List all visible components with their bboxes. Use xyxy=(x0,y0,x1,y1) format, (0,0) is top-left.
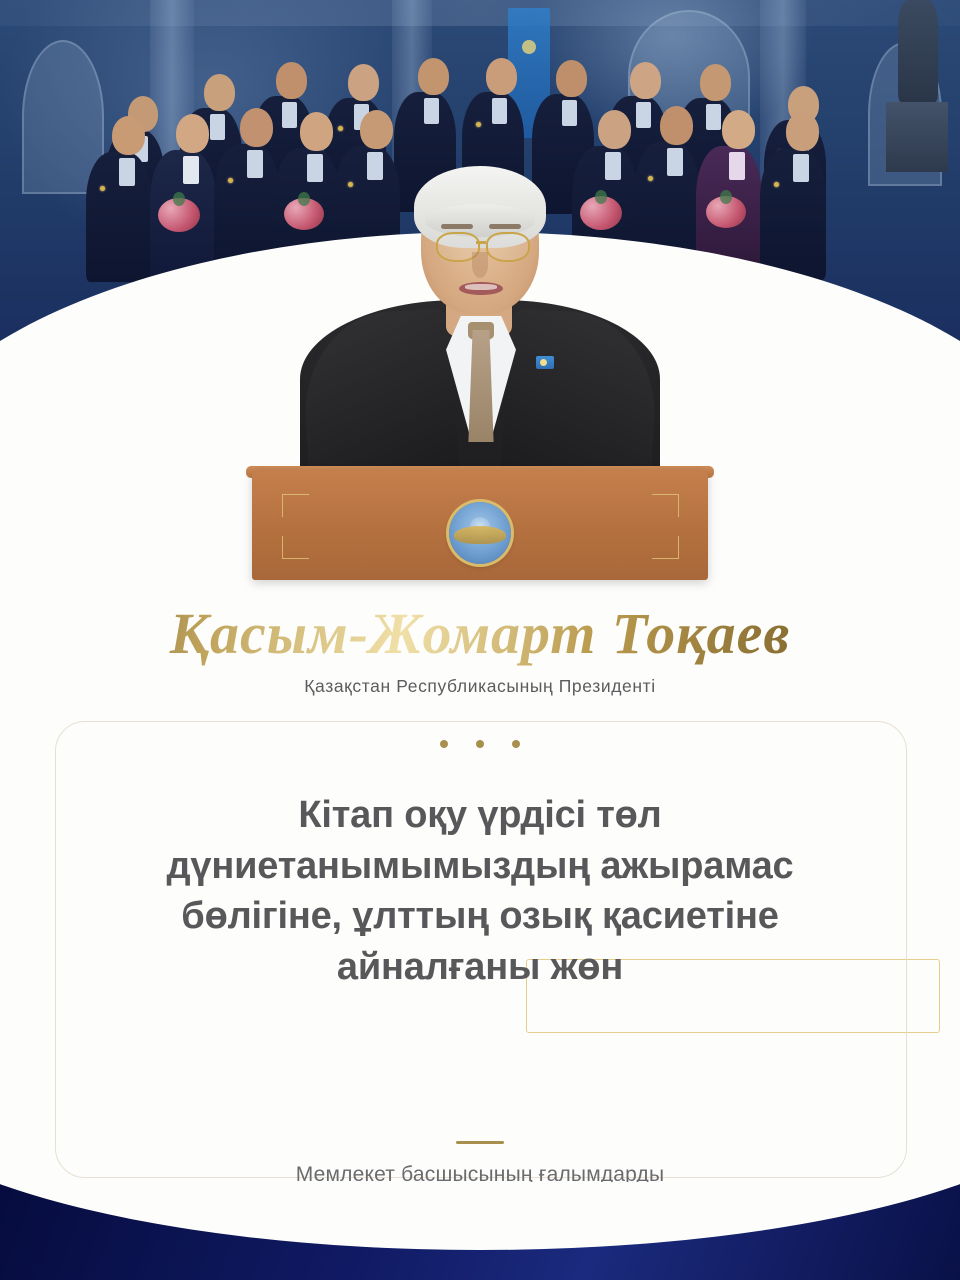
quote-line: айналғаны жөн xyxy=(95,942,865,993)
speaker-lapel-left xyxy=(301,308,460,470)
flag-lapel-pin-icon xyxy=(536,356,554,369)
dot-icon xyxy=(512,740,520,748)
poster-root: Қасым-Жомарт Тоқаев Қазақстан Республика… xyxy=(0,0,960,1280)
quote-text: Кітап оқу үрдісі төл дүниетанымымыздың а… xyxy=(95,790,865,992)
footer-band xyxy=(0,1182,960,1280)
dot-icon xyxy=(476,740,484,748)
kazakhstan-emblem-icon xyxy=(449,502,511,564)
quote-line: бөлігіне, ұлттың озық қасиетіне xyxy=(95,891,865,942)
eyeglasses-bridge xyxy=(476,241,486,244)
president-signature: Қасым-Жомарт Тоқаев xyxy=(0,600,960,667)
podium-corner-ornament xyxy=(282,536,309,559)
gold-divider xyxy=(456,1141,504,1144)
quote-line: Кітап оқу үрдісі төл xyxy=(95,790,865,841)
president-title: Қазақстан Республикасының Президенті xyxy=(0,676,960,697)
quote-line: дүниетанымымыздың ажырамас xyxy=(95,841,865,892)
speaker-figure xyxy=(0,0,960,470)
podium-corner-ornament xyxy=(652,536,679,559)
header-photo xyxy=(0,0,960,470)
eyeglasses-right-lens xyxy=(486,232,530,262)
speaker-lapel-right xyxy=(501,308,660,470)
speaker-eyebrow-left xyxy=(441,224,473,229)
speaker-eyebrow-right xyxy=(489,224,521,229)
dot-icon xyxy=(440,740,448,748)
speaker-nose xyxy=(472,252,488,278)
podium-corner-ornament xyxy=(652,494,679,517)
podium-corner-ornament xyxy=(282,494,309,517)
footer-curve-mask xyxy=(0,1182,960,1250)
speaker-mouth xyxy=(459,282,503,295)
ornament-dots xyxy=(0,735,960,753)
